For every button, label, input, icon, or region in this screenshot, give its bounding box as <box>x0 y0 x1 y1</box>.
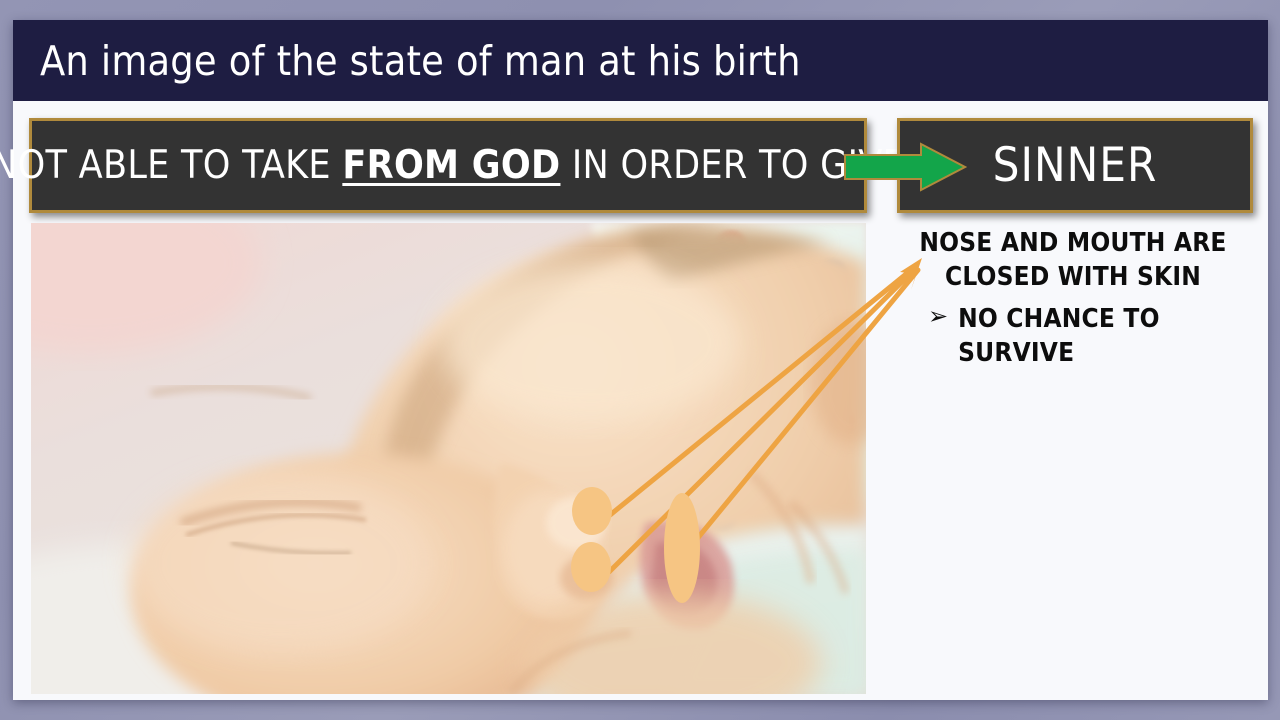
statement-text: NOT ABLE TO TAKE FROM GOD IN ORDER TO GI… <box>0 146 905 185</box>
sleeping-newborn-photo <box>31 223 866 694</box>
slide-root: An image of the state of man at his birt… <box>0 0 1280 720</box>
statement-text-before: NOT ABLE TO TAKE <box>0 143 342 188</box>
photo-vector <box>31 223 866 694</box>
page-title: An image of the state of man at his birt… <box>40 37 801 85</box>
bullet-arrow-icon: ➢ <box>928 302 948 332</box>
statement-box: NOT ABLE TO TAKE FROM GOD IN ORDER TO GI… <box>29 118 867 213</box>
forehead-highlight <box>441 263 741 423</box>
statement-emphasis-from-god: FROM GOD <box>342 143 560 188</box>
callout-bullet-row: ➢ NO CHANCE TO SURVIVE <box>880 302 1266 370</box>
green-right-arrow-icon <box>843 142 967 192</box>
result-box-label: SINNER <box>993 138 1158 193</box>
title-band: An image of the state of man at his birt… <box>13 20 1268 101</box>
callout-headline: NOSE AND MOUTH ARE CLOSED WITH SKIN <box>880 226 1266 294</box>
green-arrow-shape <box>845 144 965 190</box>
callout-panel: NOSE AND MOUTH ARE CLOSED WITH SKIN ➢ NO… <box>880 226 1266 396</box>
callout-bullet-text: NO CHANCE TO SURVIVE <box>958 302 1266 370</box>
